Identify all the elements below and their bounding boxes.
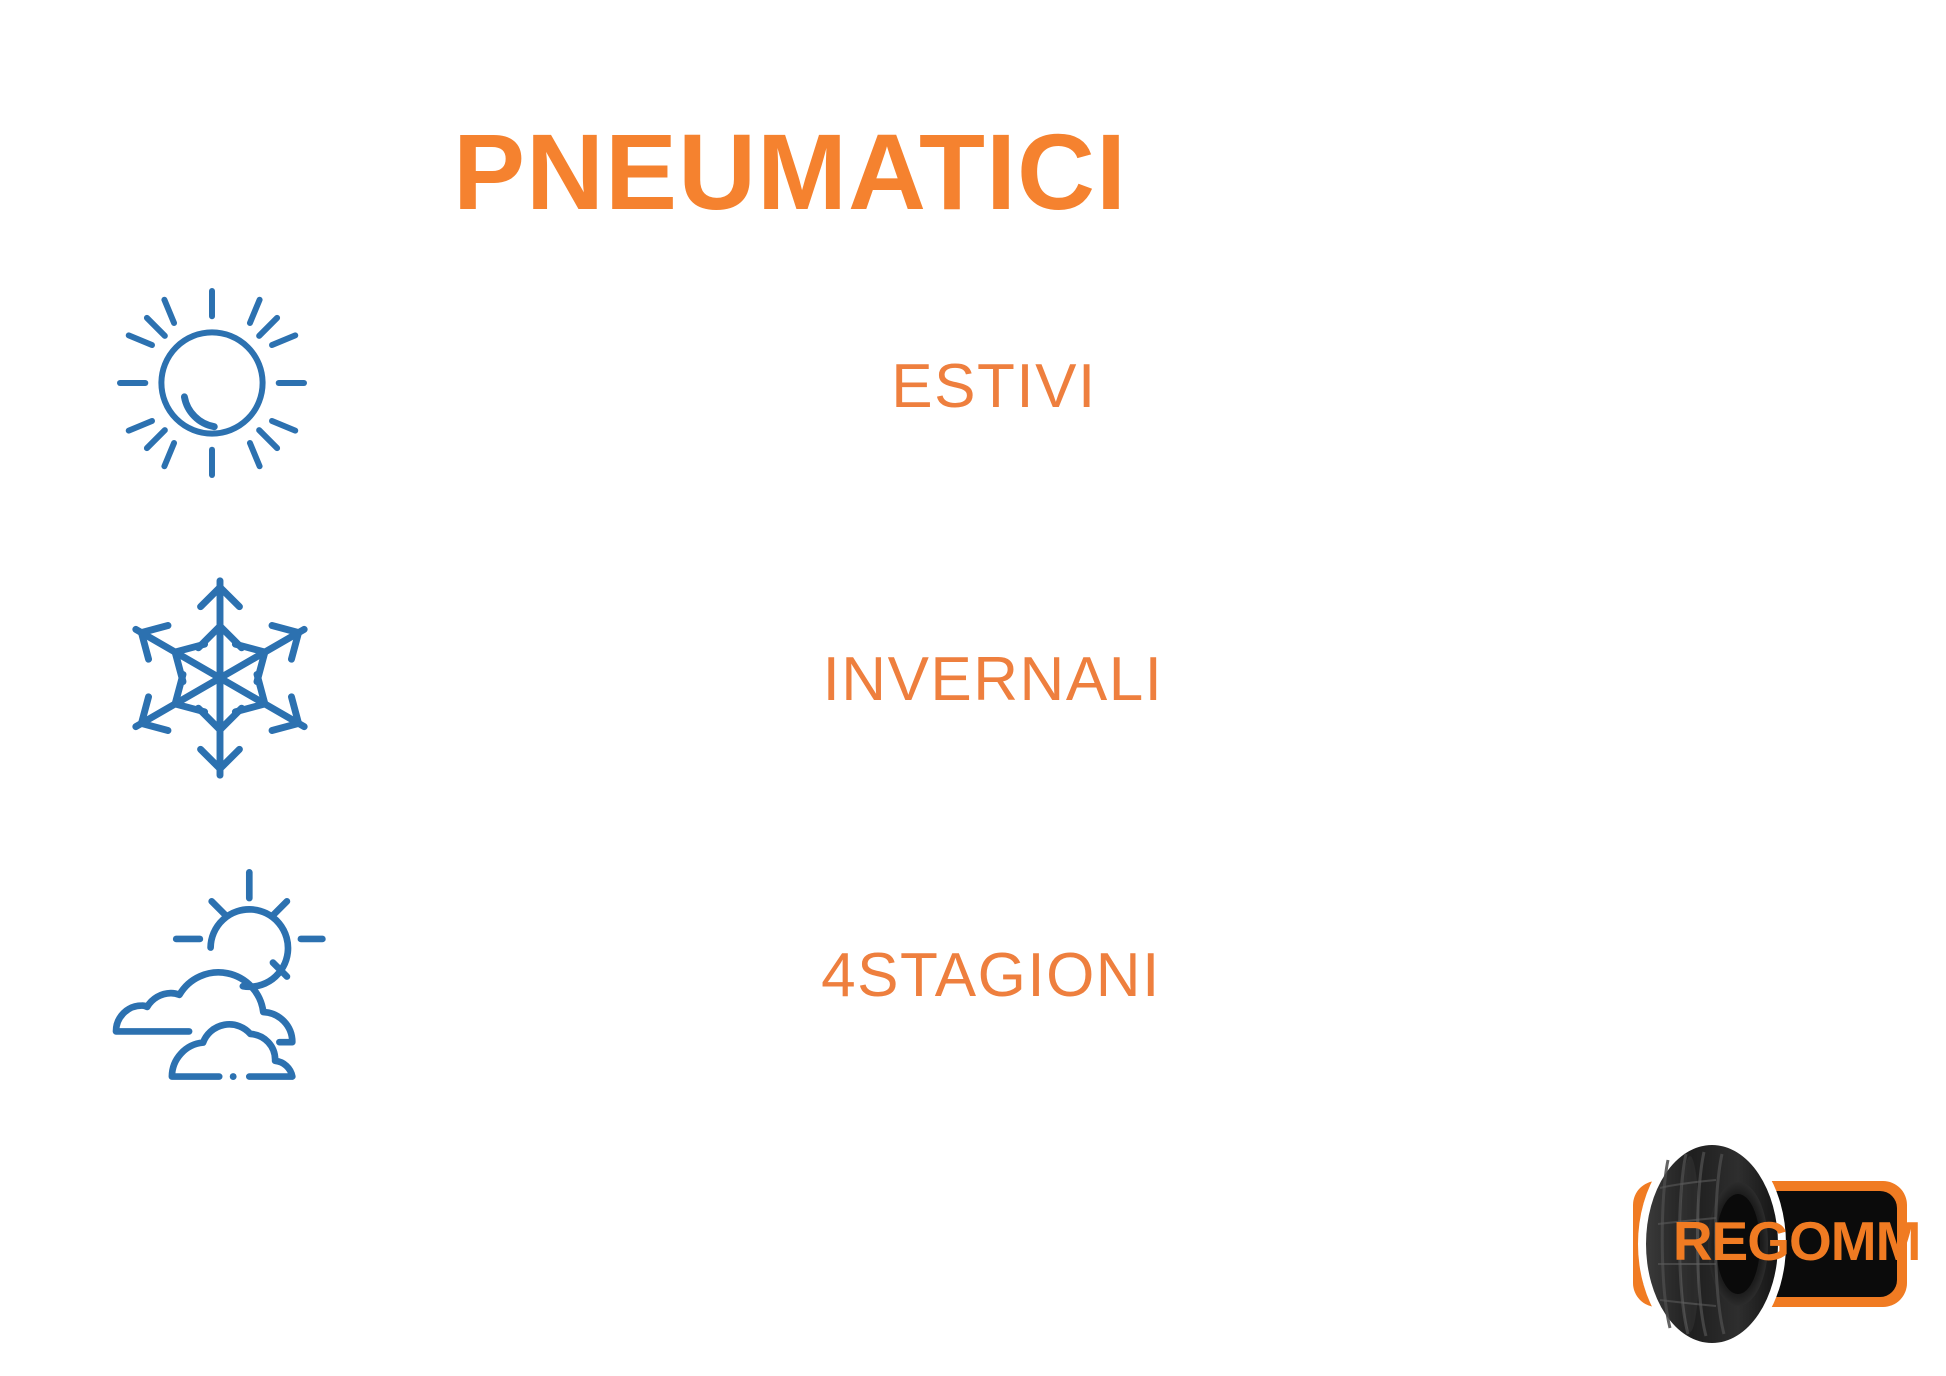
season-row-4stagioni: 4STAGIONI	[0, 848, 1580, 1088]
4stagioni-label-cell: 4STAGIONI	[436, 945, 1576, 1007]
season-label-invernali: INVERNALI	[823, 649, 1164, 711]
season-row-invernali: INVERNALI	[0, 558, 1580, 798]
season-row-estivi: ESTIVI	[0, 265, 1580, 505]
invernali-label-cell: INVERNALI	[438, 649, 1578, 711]
sun-icon-cell	[0, 268, 432, 503]
snowflake-icon	[112, 570, 328, 791]
estivi-label-cell: ESTIVI	[439, 356, 1579, 418]
sun-icon	[97, 268, 327, 503]
poster-canvas: PNEUMATICI	[0, 0, 1946, 1376]
sun-behind-clouds-icon	[77, 868, 327, 1088]
season-label-4stagioni: 4STAGIONI	[821, 945, 1161, 1007]
sun-behind-clouds-icon-cell	[0, 868, 422, 1088]
page-title: PNEUMATICI	[0, 118, 1580, 226]
regomma-logo[interactable]: REGOMMA	[1620, 1128, 1920, 1360]
snowflake-icon-cell	[0, 570, 440, 791]
season-label-estivi: ESTIVI	[891, 356, 1096, 418]
logo-text: REGOMMA	[1673, 1210, 1920, 1272]
